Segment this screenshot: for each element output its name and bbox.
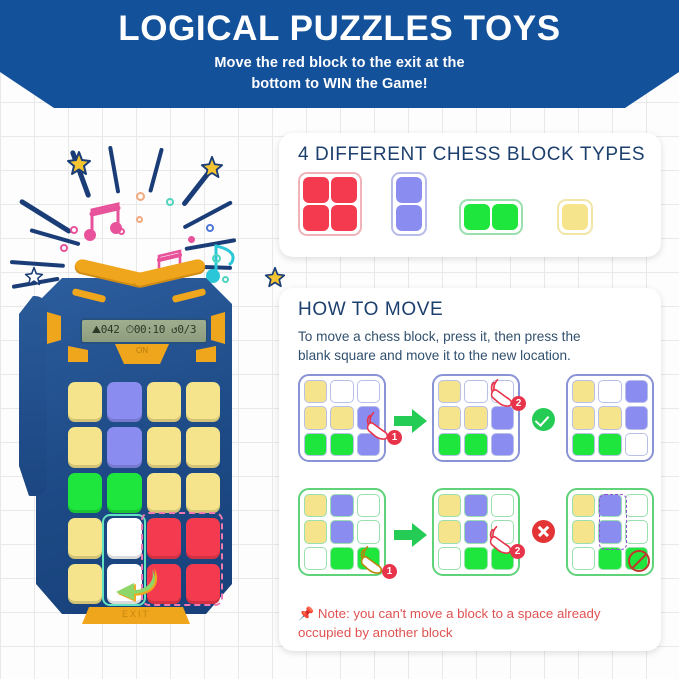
yellow-1x1-block xyxy=(557,199,593,235)
cross-circle-icon xyxy=(532,520,555,543)
mini-grid-cell-6 xyxy=(438,547,461,570)
instruction-line-2: blank square and move it to the new loca… xyxy=(298,346,642,365)
valid-move-sequence: 1 2 xyxy=(279,374,661,474)
mini-grid-cell-3 xyxy=(304,406,327,429)
burst-ray xyxy=(19,198,73,234)
mini-grid-cell-0 xyxy=(304,494,327,517)
device-grid-cell-7[interactable] xyxy=(186,427,220,467)
device-lcd-display: ⛰042 ⏱00:10 ↺0/3 xyxy=(80,318,208,344)
mini-grid-cell-6 xyxy=(572,433,595,456)
pushpin-icon: 📌 xyxy=(298,606,314,621)
mini-grid-cell-5 xyxy=(357,520,380,543)
mini-grid-cell-4 xyxy=(464,406,487,429)
red-2x2-block xyxy=(298,172,362,236)
device-grid-cell-4[interactable] xyxy=(68,427,102,467)
deco-dot xyxy=(70,226,78,234)
exit-move-arrow-icon xyxy=(108,562,162,602)
mini-grid-cell-3 xyxy=(438,520,461,543)
mini-grid-cell-7 xyxy=(464,433,487,456)
check-circle-icon xyxy=(532,408,555,431)
device-grid-cell-12[interactable] xyxy=(68,518,102,558)
mini-grid-cell-3 xyxy=(572,406,595,429)
instruction-line-1: To move a chess block, press it, then pr… xyxy=(298,327,642,346)
mini-grid-cell-0 xyxy=(572,380,595,403)
sequence-arrow-icon xyxy=(394,522,428,548)
mini-grid-cell-2 xyxy=(625,494,648,517)
header-subtitle-line1: Move the red block to the exit at the xyxy=(0,49,679,73)
device-grid-cell-10[interactable] xyxy=(147,473,181,513)
step-badge-1: 1 xyxy=(387,430,402,445)
how-to-move-panel: HOW TO MOVE To move a chess block, press… xyxy=(279,288,661,651)
mini-grid-cell-1 xyxy=(330,494,353,517)
block-types-title: 4 DIFFERENT CHESS BLOCK TYPES xyxy=(279,133,661,166)
mini-grid-cell-4 xyxy=(598,406,621,429)
mini-grid-cell-2 xyxy=(357,494,380,517)
block-cell xyxy=(396,177,422,203)
how-to-move-instructions: To move a chess block, press it, then pr… xyxy=(279,321,661,365)
device-grid-cell-6[interactable] xyxy=(147,427,181,467)
mini-grid-cell-7 xyxy=(330,433,353,456)
handheld-toy-device[interactable]: ⛰042 ⏱00:10 ↺0/3 ON EXIT xyxy=(16,262,256,632)
mini-grid-cell-8 xyxy=(625,433,648,456)
block-cell xyxy=(303,177,329,203)
note-line-2: occupied by another block xyxy=(298,625,453,640)
mini-grid-cell-2 xyxy=(625,380,648,403)
how-to-move-title: HOW TO MOVE xyxy=(279,288,661,321)
mini-grid-cell-1 xyxy=(330,380,353,403)
block-cell xyxy=(464,204,490,230)
mini-grid-cell-5 xyxy=(625,520,648,543)
mini-grid-cell-4 xyxy=(330,406,353,429)
mini-grid-cell-6 xyxy=(438,433,461,456)
mini-grid-cell-0 xyxy=(304,380,327,403)
block-cell xyxy=(331,205,357,231)
deco-dot xyxy=(118,228,125,235)
device-grid-cell-8[interactable] xyxy=(68,473,102,513)
mini-grid-cell-7 xyxy=(598,547,621,570)
warning-note: 📌 Note: you can't move a block to a spac… xyxy=(279,598,661,642)
block-cell xyxy=(331,177,357,203)
deco-dot xyxy=(166,198,174,206)
mini-grid-cell-6 xyxy=(304,547,327,570)
blue-block-dashed-outline xyxy=(599,494,627,550)
mini-grid-cell-1 xyxy=(598,380,621,403)
deco-dot xyxy=(136,192,145,201)
device-grid-cell-1[interactable] xyxy=(107,382,141,422)
device-tab-left-icon xyxy=(66,344,92,366)
mini-grid-cell-2 xyxy=(491,494,514,517)
invalid-move-sequence: 1 2 xyxy=(279,488,661,588)
star-small-icon xyxy=(264,266,286,288)
step-badge-2: 2 xyxy=(510,544,525,559)
no-entry-icon xyxy=(628,550,650,572)
blue-1x2-vertical-block xyxy=(391,172,427,236)
block-cell xyxy=(562,204,588,230)
sequence-arrow-icon xyxy=(394,408,428,434)
device-grid-cell-9[interactable] xyxy=(107,473,141,513)
star-left-icon xyxy=(66,150,92,176)
mini-grid-cell-8 xyxy=(491,433,514,456)
mini-grid-cell-6 xyxy=(304,433,327,456)
device-grid-cell-11[interactable] xyxy=(186,473,220,513)
valid-step-3-grid xyxy=(566,374,654,462)
device-tab-right-icon xyxy=(192,344,218,366)
device-corner-left-icon xyxy=(43,308,65,348)
mini-grid-cell-7 xyxy=(598,433,621,456)
block-types-panel: 4 DIFFERENT CHESS BLOCK TYPES xyxy=(279,133,661,257)
mini-grid-cell-5 xyxy=(491,406,514,429)
mini-grid-cell-0 xyxy=(438,380,461,403)
block-cell xyxy=(303,205,329,231)
invalid-step-3-grid xyxy=(566,488,654,576)
mini-grid-cell-3 xyxy=(438,406,461,429)
block-types-row xyxy=(279,170,661,240)
deco-dot xyxy=(206,224,214,232)
device-grid-cell-3[interactable] xyxy=(186,382,220,422)
step-badge-1: 1 xyxy=(382,564,397,579)
mini-grid-cell-0 xyxy=(572,494,595,517)
device-grid-cell-0[interactable] xyxy=(68,382,102,422)
device-grid-cell-16[interactable] xyxy=(68,564,102,604)
burst-ray xyxy=(148,147,164,192)
deco-dot xyxy=(136,216,143,223)
mini-grid-cell-4 xyxy=(464,520,487,543)
device-grid-cell-2[interactable] xyxy=(147,382,181,422)
device-exit-slot: EXIT xyxy=(82,607,190,624)
burst-ray xyxy=(108,146,120,194)
star-right-icon xyxy=(200,155,224,179)
green-2x1-horizontal-block xyxy=(459,199,523,235)
mini-grid-cell-1 xyxy=(464,380,487,403)
device-grid-cell-5[interactable] xyxy=(107,427,141,467)
mini-grid-cell-2 xyxy=(357,380,380,403)
mini-grid-cell-1 xyxy=(464,494,487,517)
mini-grid-cell-7 xyxy=(330,547,353,570)
deco-dot xyxy=(188,236,195,243)
block-cell xyxy=(492,204,518,230)
mini-grid-cell-3 xyxy=(572,520,595,543)
mini-grid-cell-4 xyxy=(330,520,353,543)
note-line-1: Note: you can't move a block to a space … xyxy=(318,606,601,621)
device-power-button[interactable]: ON xyxy=(115,344,169,364)
mini-grid-cell-3 xyxy=(304,520,327,543)
mini-grid-cell-6 xyxy=(572,547,595,570)
deco-dot xyxy=(60,244,68,252)
page-title: LOGICAL PUZZLES TOYS xyxy=(0,0,679,49)
header-banner: LOGICAL PUZZLES TOYS Move the red block … xyxy=(0,0,679,108)
mini-grid-cell-7 xyxy=(464,547,487,570)
device-corner-right-icon xyxy=(207,308,229,348)
step-badge-2: 2 xyxy=(511,396,526,411)
block-cell xyxy=(396,205,422,231)
mini-grid-cell-5 xyxy=(625,406,648,429)
mini-grid-cell-0 xyxy=(438,494,461,517)
music-note-pink-beamed-icon xyxy=(84,200,124,244)
header-subtitle-line2: bottom to WIN the Game! xyxy=(0,73,679,94)
infographic-root: LOGICAL PUZZLES TOYS Move the red block … xyxy=(0,0,679,679)
